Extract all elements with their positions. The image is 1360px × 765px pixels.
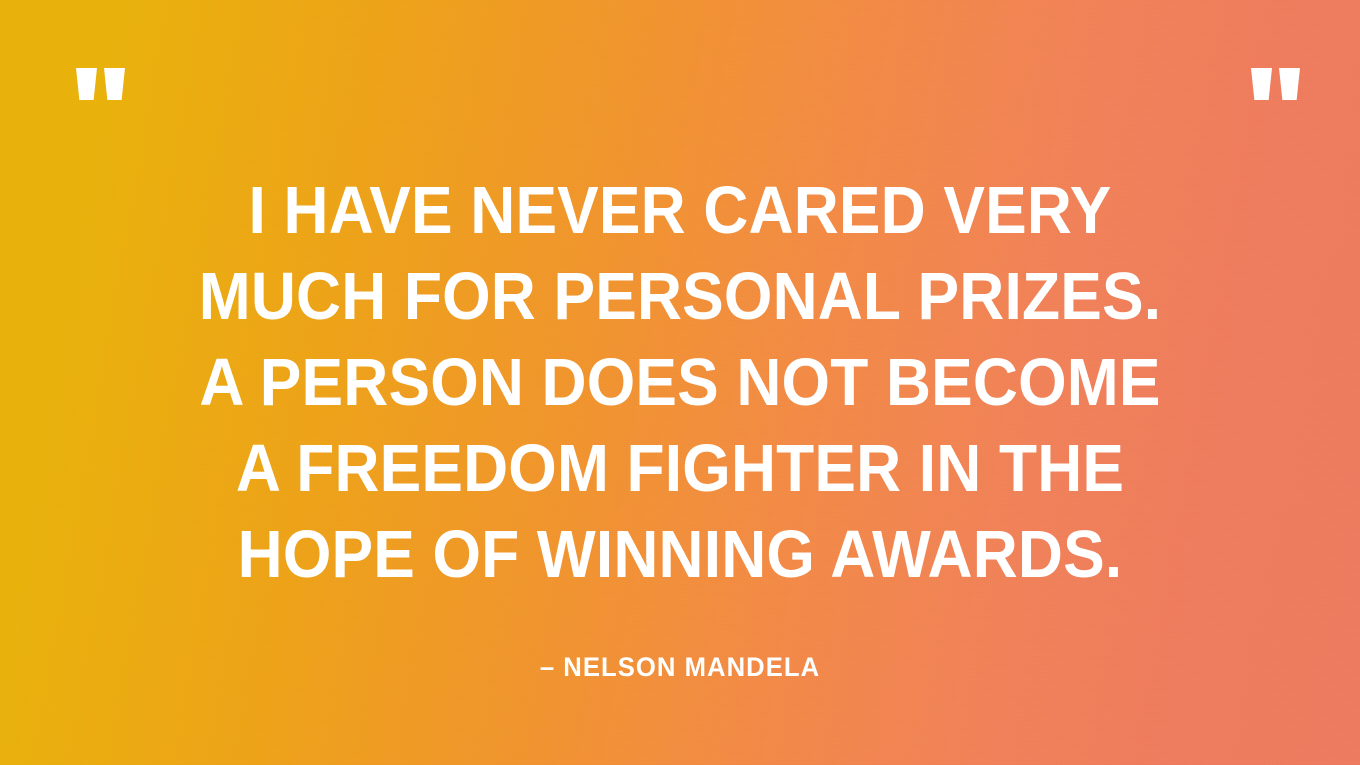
open-quote-icon-stroke-2	[104, 68, 125, 100]
quote-line: A PERSON DOES NOT BECOME	[113, 340, 1248, 426]
open-quote-icon	[76, 68, 125, 100]
quote-line: MUCH FOR PERSONAL PRIZES.	[113, 254, 1248, 340]
close-quote-icon-stroke-2	[1279, 68, 1300, 100]
quote-attribution: – NELSON MANDELA	[34, 650, 1326, 684]
close-quote-icon-stroke-1	[1251, 68, 1272, 100]
quote-line: I HAVE NEVER CARED VERY	[113, 168, 1248, 254]
quote-line: HOPE OF WINNING AWARDS.	[113, 512, 1248, 598]
close-quote-icon	[1251, 68, 1300, 100]
open-quote-icon-stroke-1	[76, 68, 97, 100]
quote-card: I HAVE NEVER CARED VERY MUCH FOR PERSONA…	[0, 0, 1360, 765]
quote-text: I HAVE NEVER CARED VERY MUCH FOR PERSONA…	[0, 168, 1360, 598]
quote-line: A FREEDOM FIGHTER IN THE	[113, 426, 1248, 512]
